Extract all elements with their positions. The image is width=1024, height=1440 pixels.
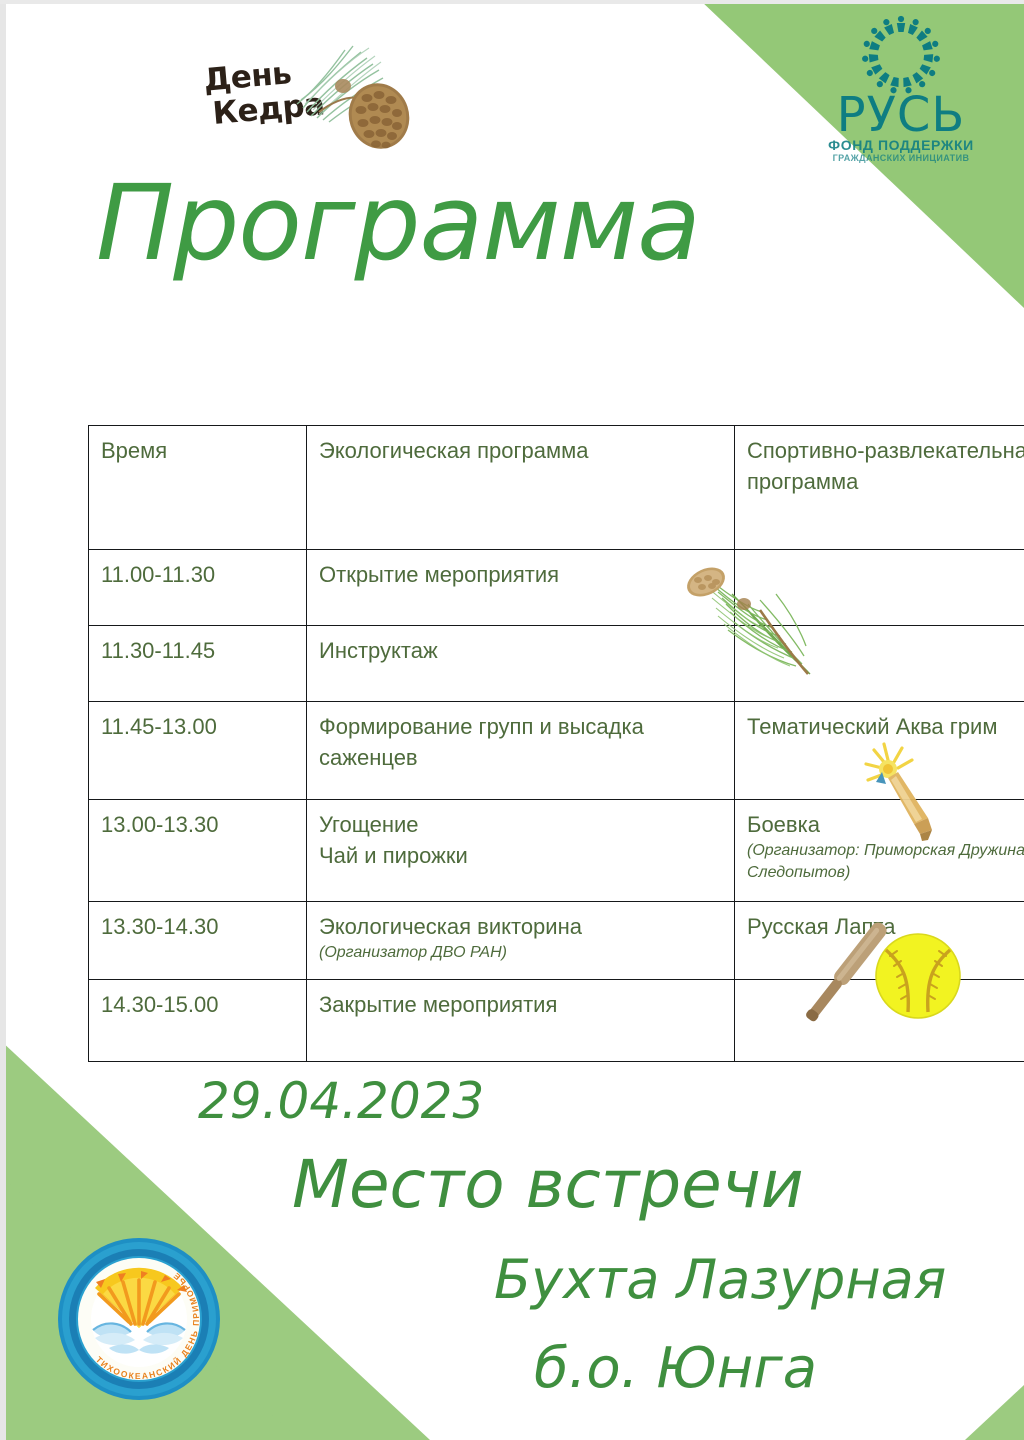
cell-time: 11.00-11.30 [89,550,307,626]
rus-logo-subtitle-1: ФОНД ПОДДЕРЖКИ [806,138,996,153]
pine-cone-branch-icon [283,38,423,170]
cell-sport: Русская Лапта [735,902,1024,980]
cell-time: 11.45-13.00 [89,702,307,800]
rus-logo-subtitle-2: ГРАЖДАНСКИХ ИНИЦИАТИВ [806,153,996,164]
cell-time: 13.30-14.30 [89,902,307,980]
cell-sport [735,626,1024,702]
cell-eco: Экологическая викторина (Организатор ДВО… [307,902,735,980]
cell-eco: Закрытие мероприятия [307,980,735,1062]
cell-sport [735,550,1024,626]
event-date: 29.04.2023 [198,1072,484,1130]
cell-eco-note: (Организатор ДВО РАН) [319,942,724,964]
cell-eco-line-2: Чай и пирожки [319,840,724,871]
table-row: 13.30-14.30 Экологическая викторина (Орг… [89,902,1024,980]
meeting-place-label: Место встречи [292,1146,804,1223]
cell-sport: Тематический Аква грим [735,702,1024,800]
page-title: Программа [96,162,700,284]
table-header-row: Время Экологическая программа Спортивно-… [89,426,1024,550]
program-table-wrapper: Время Экологическая программа Спортивно-… [88,425,1008,1062]
cell-eco-title: Экологическая викторина [319,911,724,942]
page-top-edge [0,0,1024,4]
cell-sport-title: Боевка [747,809,1024,840]
header-sport-program: Спортивно-развлекательная программа [735,426,1024,550]
poster-canvas: День Кедра [0,0,1024,1440]
people-ring-icon [841,14,961,96]
cell-sport: Боевка (Организатор: Приморская Дружина … [735,800,1024,902]
table-row: 14.30-15.00 Закрытие мероприятия [89,980,1024,1062]
table-row: 13.00-13.30 Угощение Чай и пирожки Боевк… [89,800,1024,902]
header-eco-program: Экологическая программа [307,426,735,550]
cell-time: 13.00-13.30 [89,800,307,902]
cell-time: 14.30-15.00 [89,980,307,1062]
cell-eco: Открытие мероприятия [307,550,735,626]
table-row: 11.30-11.45 Инструктаж [89,626,1024,702]
rus-fund-logo: РУСЬ ФОНД ПОДДЕРЖКИ ГРАЖДАНСКИХ ИНИЦИАТИ… [806,14,996,194]
cell-time: 11.30-11.45 [89,626,307,702]
cell-eco: Угощение Чай и пирожки [307,800,735,902]
pacific-day-emblem-icon: ТИХООКЕАНСКИЙ ДЕНЬ ПРИМОРЬЕ [56,1236,222,1402]
page-left-edge [0,0,6,1440]
table-row: 11.45-13.00 Формирование групп и высадка… [89,702,1024,800]
program-table: Время Экологическая программа Спортивно-… [88,425,1024,1062]
cell-sport-note: (Организатор: Приморская Дружина Следопы… [747,840,1024,884]
cell-sport [735,980,1024,1062]
meeting-place-base: б.о. Юнга [534,1336,817,1401]
rus-logo-wordmark: РУСЬ [806,92,996,138]
cell-eco: Формирование групп и высадка саженцев [307,702,735,800]
table-row: 11.00-11.30 Открытие мероприятия [89,550,1024,626]
meeting-place-bay: Бухта Лазурная [494,1248,946,1311]
header-time: Время [89,426,307,550]
cell-eco-line-1: Угощение [319,809,724,840]
cell-eco: Инструктаж [307,626,735,702]
cedar-day-logo: День Кедра [205,42,415,172]
